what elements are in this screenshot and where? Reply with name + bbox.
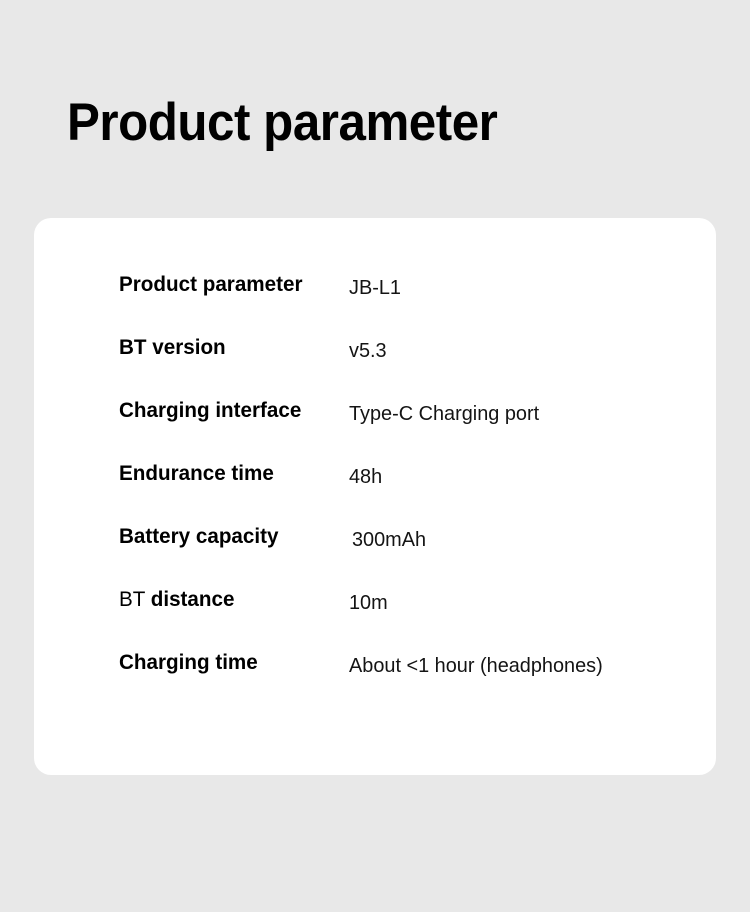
table-row: BT distance 10m [34,579,716,619]
spec-value: Type-C Charging port [349,394,539,434]
table-row: Endurance time 48h [34,453,716,493]
table-row: BT version v5.3 [34,327,716,367]
spec-value: 300mAh [352,520,426,560]
spec-label: BT version [119,327,226,367]
spec-label-prefix: BT [119,587,151,611]
spec-card: Product parameter JB-L1 BT version v5.3 … [34,218,716,775]
spec-label: BT distance [119,579,234,619]
table-row: Battery capacity 300mAh [34,516,716,556]
product-parameter-page: Product parameter Product parameter JB-L… [0,0,750,912]
spec-value: 48h [349,457,382,497]
spec-value: 10m [349,583,388,623]
spec-label: Endurance time [119,453,274,493]
table-row: Charging time About <1 hour (headphones) [34,642,716,682]
spec-label: Battery capacity [119,516,278,556]
spec-value: About <1 hour (headphones) [349,646,603,686]
spec-label: Charging time [119,642,258,682]
spec-value: JB-L1 [349,268,401,308]
page-title: Product parameter [67,92,497,154]
table-row: Product parameter JB-L1 [34,264,716,304]
table-row: Charging interface Type-C Charging port [34,390,716,430]
spec-label-rest: distance [151,587,235,611]
spec-value: v5.3 [349,331,387,371]
spec-label: Product parameter [119,264,303,304]
spec-label: Charging interface [119,390,301,430]
